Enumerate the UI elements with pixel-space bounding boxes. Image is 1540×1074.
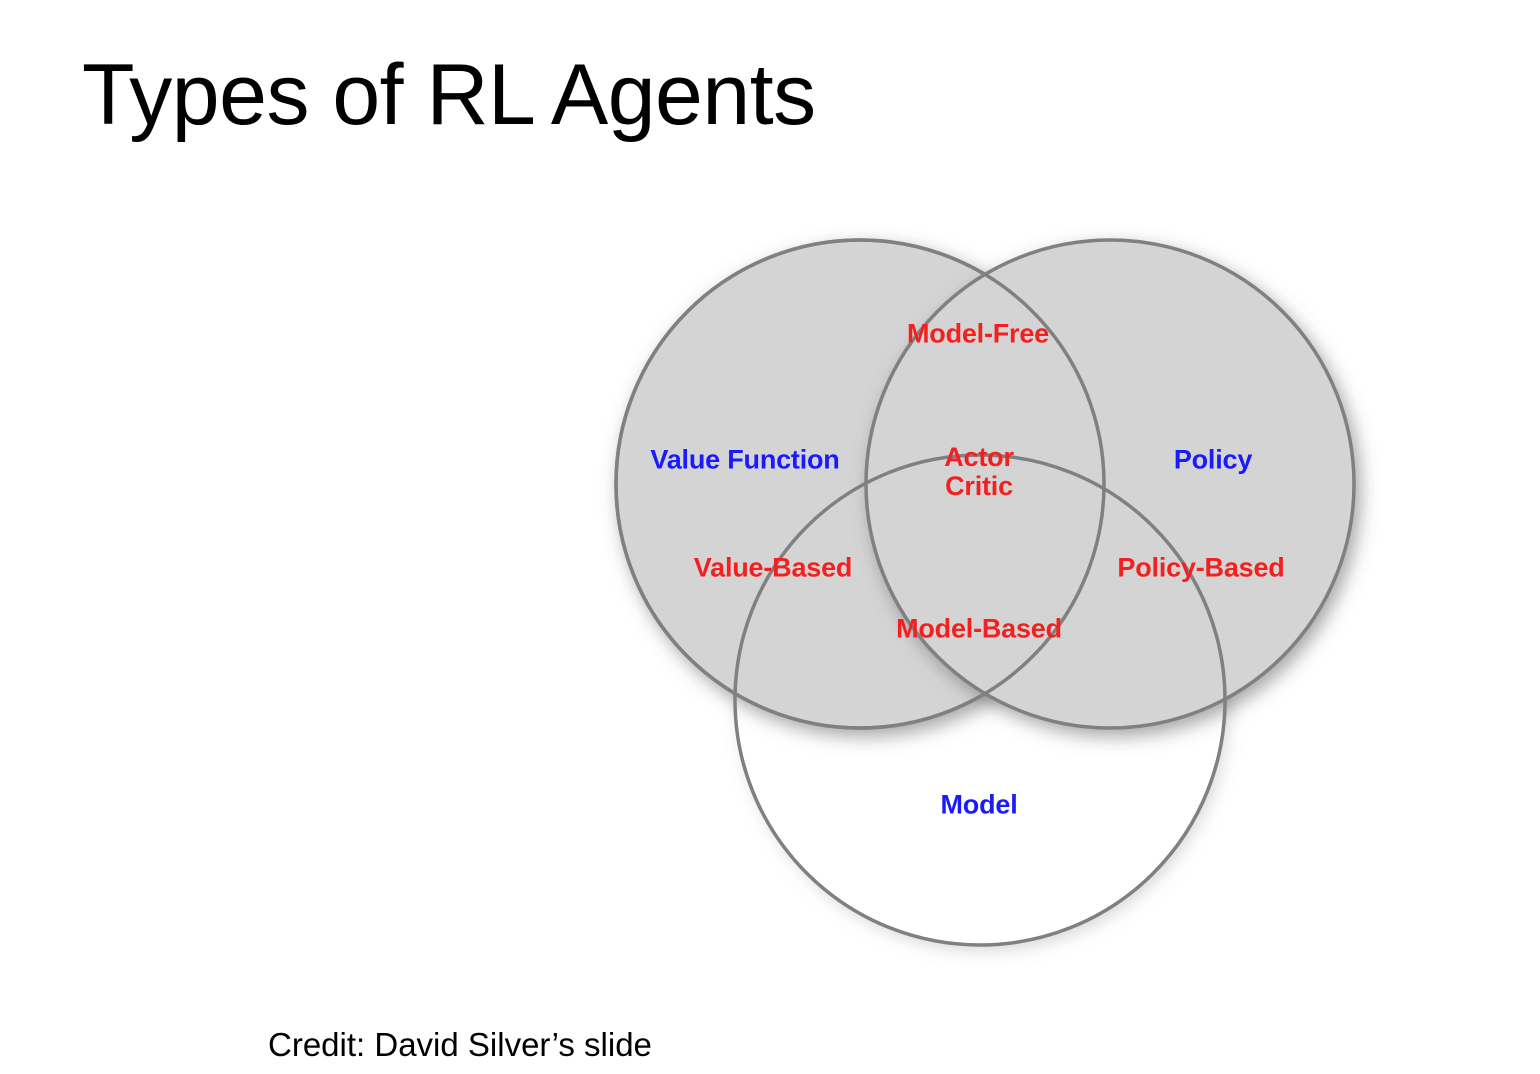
venn-label-layer: Model-Free Value Function Actor Critic P… (0, 0, 1540, 1010)
label-value-function: Value Function (650, 446, 839, 475)
label-value-based: Value-Based (694, 554, 852, 583)
label-model: Model (941, 791, 1018, 820)
label-policy: Policy (1174, 446, 1252, 475)
credit-line: Credit: David Silver’s slide (268, 1026, 652, 1064)
label-model-based: Model-Based (896, 615, 1062, 644)
label-policy-based: Policy-Based (1117, 554, 1284, 583)
label-model-free: Model-Free (907, 320, 1049, 349)
label-actor-critic: Actor Critic (944, 443, 1014, 501)
venn-diagram: Model-Free Value Function Actor Critic P… (0, 0, 1540, 1010)
